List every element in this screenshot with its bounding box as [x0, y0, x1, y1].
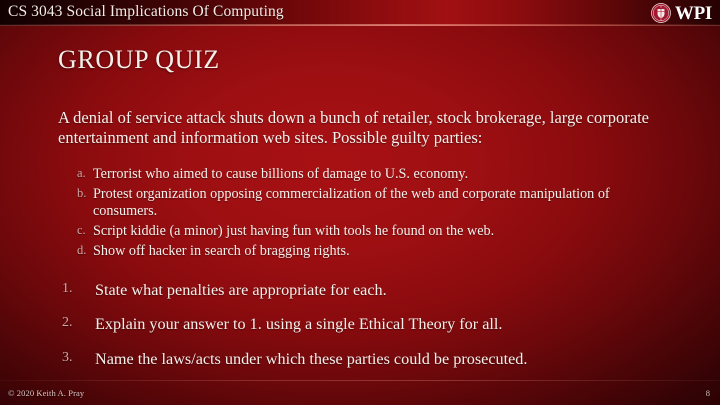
- list-marker: 1.: [58, 281, 95, 298]
- list-marker: a.: [58, 166, 93, 181]
- list-marker: b.: [58, 186, 93, 201]
- list-text: Name the laws/acts under which these par…: [95, 350, 678, 369]
- list-text: Terrorist who aimed to cause billions of…: [93, 166, 662, 183]
- list-text: State what penalties are appropriate for…: [95, 281, 678, 300]
- list-item: a. Terrorist who aimed to cause billions…: [58, 166, 662, 183]
- wpi-logo: WPI: [651, 1, 712, 25]
- numbered-list: 1. State what penalties are appropriate …: [58, 281, 678, 384]
- list-text: Protest organization opposing commercial…: [93, 186, 662, 220]
- footer-page-number: 8: [706, 388, 710, 398]
- list-item: c. Script kiddie (a minor) just having f…: [58, 223, 662, 240]
- list-text: Show off hacker in search of bragging ri…: [93, 243, 662, 260]
- footer-copyright: © 2020 Keith A. Pray: [8, 388, 84, 398]
- list-text: Explain your answer to 1. using a single…: [95, 315, 678, 334]
- list-marker: 2.: [58, 315, 95, 332]
- wpi-wordmark: WPI: [675, 4, 712, 23]
- course-title: CS 3043 Social Implications Of Computing: [8, 3, 284, 21]
- list-marker: c.: [58, 223, 93, 238]
- list-item: b. Protest organization opposing commerc…: [58, 186, 662, 220]
- list-text: Script kiddie (a minor) just having fun …: [93, 223, 662, 240]
- footer-divider: [0, 380, 720, 381]
- wpi-seal-icon: [651, 3, 671, 23]
- list-marker: d.: [58, 243, 93, 258]
- header-band: CS 3043 Social Implications Of Computing…: [0, 0, 720, 26]
- slide-canvas: CS 3043 Social Implications Of Computing…: [0, 0, 720, 405]
- alpha-list: a. Terrorist who aimed to cause billions…: [58, 166, 662, 263]
- list-item: d. Show off hacker in search of bragging…: [58, 243, 662, 260]
- list-item: 2. Explain your answer to 1. using a sin…: [58, 315, 678, 334]
- list-marker: 3.: [58, 350, 95, 367]
- body-paragraph: A denial of service attack shuts down a …: [58, 108, 662, 148]
- slide-title: GROUP QUIZ: [58, 45, 220, 75]
- list-item: 1. State what penalties are appropriate …: [58, 281, 678, 300]
- list-item: 3. Name the laws/acts under which these …: [58, 350, 678, 369]
